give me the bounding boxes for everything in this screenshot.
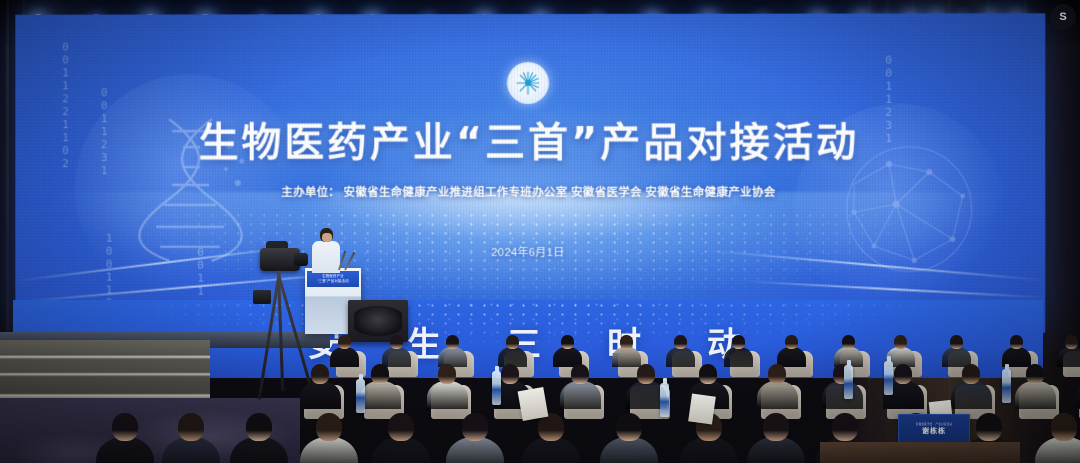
audience-head xyxy=(637,364,655,384)
audience-head xyxy=(842,335,855,349)
audience-head xyxy=(246,413,272,441)
audience-member xyxy=(300,409,358,463)
audience-member xyxy=(600,409,658,463)
audience-head xyxy=(950,335,963,349)
audience-head xyxy=(976,413,1002,441)
audience-head xyxy=(388,413,414,441)
audience-torso xyxy=(1015,381,1056,409)
audience-head xyxy=(768,364,786,384)
audience-torso xyxy=(427,381,468,409)
audience-head xyxy=(832,413,858,441)
handout-document xyxy=(518,387,549,421)
water-bottle xyxy=(492,371,501,405)
name-placard: 安徽省医学会 · 产业对接活动 谢栋栋 xyxy=(898,414,970,444)
audience-member xyxy=(951,361,992,409)
audience-torso xyxy=(822,381,863,409)
audience-head xyxy=(462,413,488,441)
audience-head xyxy=(178,413,204,441)
audience-member xyxy=(162,409,220,463)
audience-head xyxy=(1010,335,1023,349)
table-surface xyxy=(820,442,1020,463)
audience-torso xyxy=(757,381,798,409)
audience-member xyxy=(446,409,504,463)
audience-member xyxy=(822,361,863,409)
audience-member xyxy=(230,409,288,463)
audience-head xyxy=(438,364,456,384)
radial-burst-logo-icon xyxy=(507,62,549,104)
event-title: 生物医药产业“三首”产品对接活动 xyxy=(15,110,1045,168)
audience-member xyxy=(757,361,798,409)
audience-head xyxy=(699,364,717,384)
audience-torso xyxy=(300,381,341,409)
event-organizers: 主办单位： 安徽省生命健康产业推进组工作专班办公室 安徽省医学会 安徽省生命健康… xyxy=(15,184,1045,200)
audience-head xyxy=(446,335,459,349)
event-date: 2024年6月1日 xyxy=(15,244,1045,261)
audience-member xyxy=(372,409,430,463)
audience-head xyxy=(338,335,351,349)
handout-document xyxy=(688,393,716,424)
audience-head xyxy=(894,335,907,349)
watermark-badge: S xyxy=(1050,4,1076,30)
audience-head xyxy=(371,364,389,384)
audience-torso xyxy=(360,381,401,409)
placard-name: 谢栋栋 xyxy=(922,426,946,436)
audience-head xyxy=(1026,364,1044,384)
audience-head xyxy=(1051,413,1077,441)
water-bottle xyxy=(660,383,669,417)
audience-head xyxy=(571,364,589,384)
audience-member xyxy=(747,409,805,463)
audience-head xyxy=(561,335,574,349)
audience-member xyxy=(96,409,154,463)
audience-head xyxy=(390,335,403,349)
water-bottle xyxy=(1002,369,1011,403)
conference-photo: 0011221102 0011231 1001120 0011 0011231 xyxy=(0,0,1080,463)
audience-head xyxy=(506,335,519,349)
audience-head xyxy=(620,335,633,349)
audience-torso xyxy=(1035,437,1080,463)
water-bottle xyxy=(356,379,365,413)
audience-member xyxy=(560,361,601,409)
audience-head xyxy=(763,413,789,441)
audience-torso xyxy=(560,381,601,409)
audience-torso xyxy=(1075,381,1080,409)
audience-head xyxy=(316,413,342,441)
audience-member xyxy=(427,361,468,409)
audience-member xyxy=(1035,409,1080,463)
audience-head xyxy=(962,364,980,384)
audience-head xyxy=(785,335,798,349)
water-bottle xyxy=(884,361,893,395)
audience-torso xyxy=(951,381,992,409)
audience-head xyxy=(894,364,912,384)
audience-head xyxy=(1065,335,1078,349)
water-bottle xyxy=(844,365,853,399)
audience-head xyxy=(674,335,687,349)
audience-head xyxy=(311,364,329,384)
audience-head xyxy=(616,413,642,441)
audience-member xyxy=(360,361,401,409)
audience-head xyxy=(112,413,138,441)
audience-head xyxy=(501,364,519,384)
audience-head xyxy=(732,335,745,349)
audience-member xyxy=(300,361,341,409)
audience-member xyxy=(1015,361,1056,409)
audience-member xyxy=(1075,361,1080,409)
